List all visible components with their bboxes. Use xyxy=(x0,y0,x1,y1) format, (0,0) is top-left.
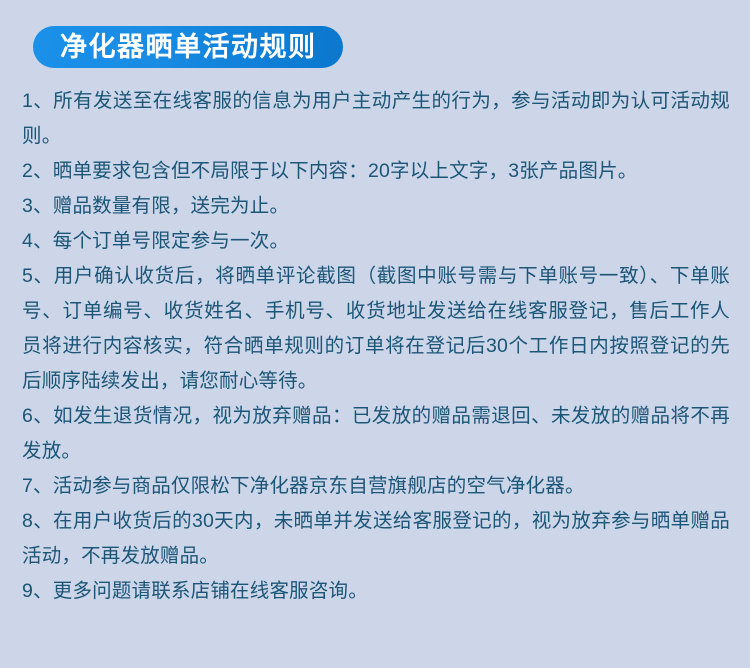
rule-item-8: 8、在用户收货后的30天内，未晒单并发送给客服登记的，视为放弃参与晒单赠品活动，… xyxy=(22,504,730,574)
rule-item-2: 2、晒单要求包含但不局限于以下内容：20字以上文字，3张产品图片。 xyxy=(22,154,730,189)
rule-item-5: 5、用户确认收货后，将晒单评论截图（截图中账号需与下单账号一致）、下单账号、订单… xyxy=(22,259,730,399)
rule-item-9: 9、更多问题请联系店铺在线客服咨询。 xyxy=(22,574,730,609)
promo-rules-page: 净化器晒单活动规则 1、所有发送至在线客服的信息为用户主动产生的行为，参与活动即… xyxy=(0,0,750,668)
rule-item-7: 7、活动参与商品仅限松下净化器京东自营旗舰店的空气净化器。 xyxy=(22,469,730,504)
rule-item-4: 4、每个订单号限定参与一次。 xyxy=(22,224,730,259)
rule-item-6: 6、如发生退货情况，视为放弃赠品：已发放的赠品需退回、未发放的赠品将不再发放。 xyxy=(22,399,730,469)
rule-item-3: 3、赠品数量有限，送完为止。 xyxy=(22,189,730,224)
page-title: 净化器晒单活动规则 xyxy=(33,26,343,68)
rules-list: 1、所有发送至在线客服的信息为用户主动产生的行为，参与活动即为认可活动规则。 2… xyxy=(0,68,750,609)
title-banner-container: 净化器晒单活动规则 xyxy=(0,0,750,68)
rule-item-1: 1、所有发送至在线客服的信息为用户主动产生的行为，参与活动即为认可活动规则。 xyxy=(22,84,730,154)
